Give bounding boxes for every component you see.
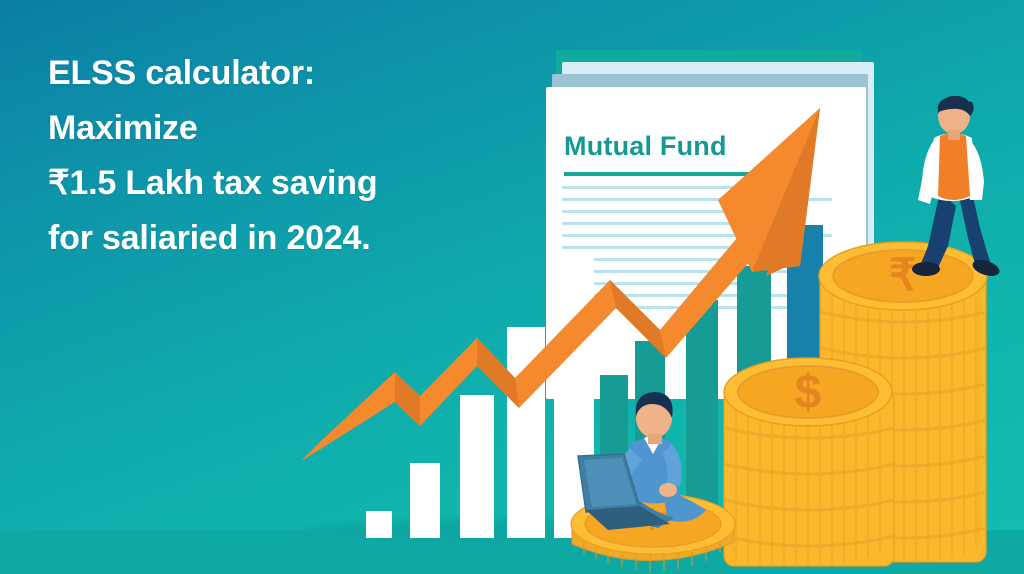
bar-1: [366, 511, 392, 538]
climbing-person: [896, 96, 1008, 297]
seated-person-with-laptop: [566, 392, 756, 574]
bar-2: [410, 463, 440, 538]
elss-calculator-banner: ELSS calculator: Maximize ₹1.5 Lakh tax …: [0, 0, 1024, 574]
dollar-icon: $: [795, 366, 822, 419]
